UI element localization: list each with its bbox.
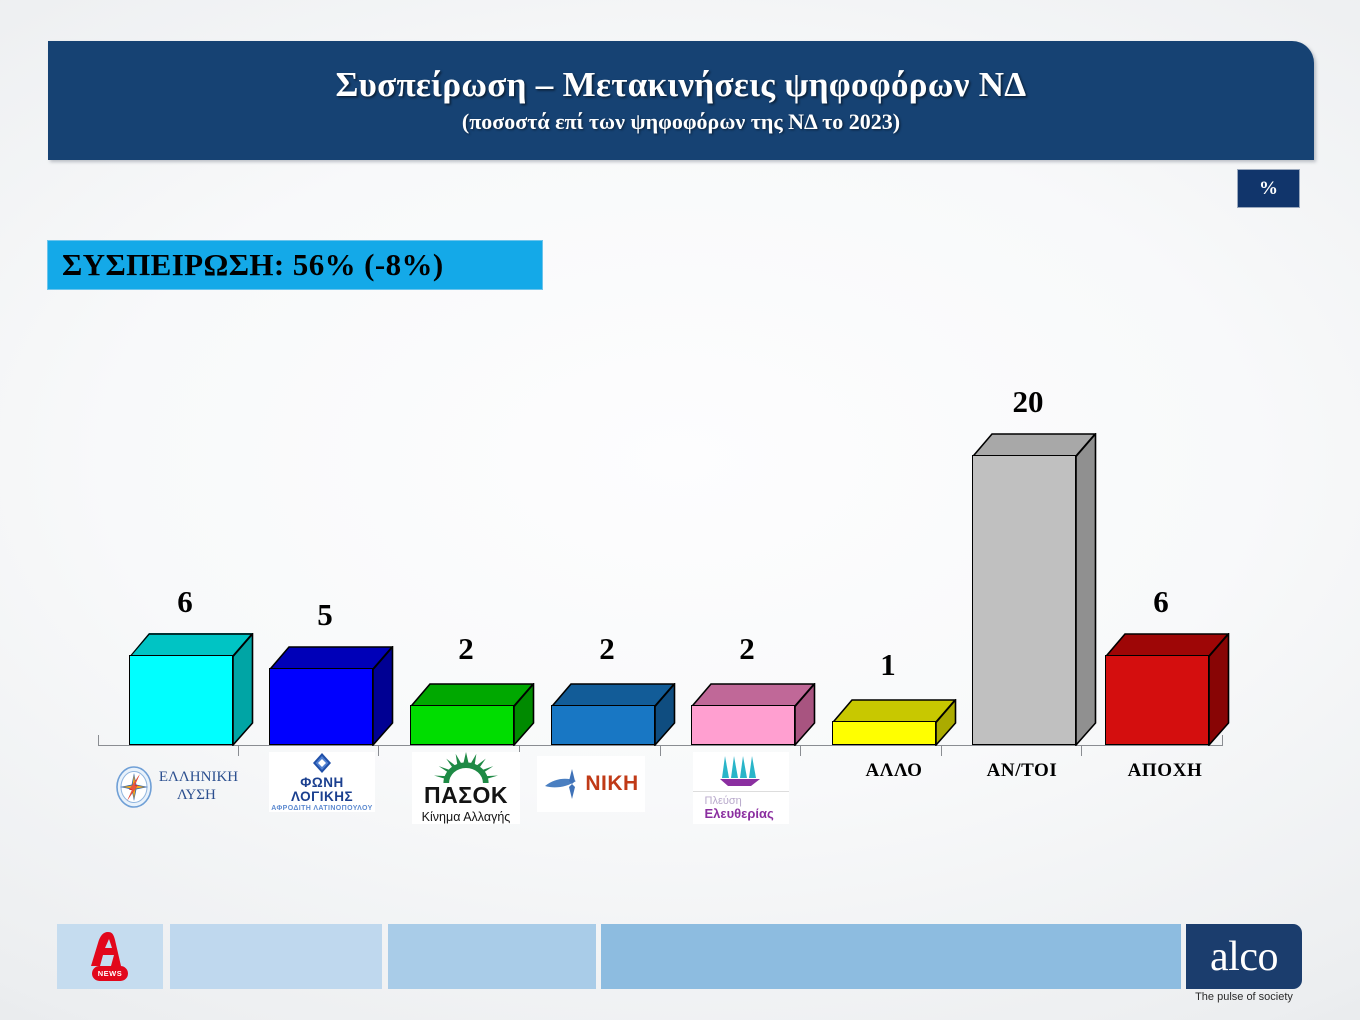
alco-tagline: The pulse of society: [1186, 991, 1302, 1003]
diamond-waves-icon: [311, 752, 333, 774]
bar-top-face: [691, 683, 815, 707]
logo-text-niki: ΝΙΚΗ: [585, 772, 638, 796]
x-axis-line: [98, 745, 1222, 746]
bar-top-face: [410, 683, 534, 707]
bar-front-face: [410, 705, 514, 745]
bar-front-face: [129, 655, 233, 745]
bar-side-face: [1075, 433, 1097, 745]
pasok-sun-icon: [430, 752, 502, 784]
logo-pasok: ΠΑΣΟΚ Κίνημα Αλλαγής: [412, 752, 520, 824]
bar-side-face: [513, 683, 535, 745]
axis-tick: [238, 745, 239, 756]
bar-top-face: [129, 633, 253, 657]
logo-text-plefsi-line1: Πλεύση: [705, 796, 778, 807]
logo-subtext-foni-logikis: ΑΦΡΟΔΙΤΗ ΛΑΤΙΝΟΠΟΥΛΟΥ: [271, 805, 373, 812]
bar-side-face: [794, 683, 816, 745]
bar-value: 2: [685, 631, 809, 667]
alpha-news-logo: NEWS: [57, 924, 163, 989]
bar-value: 1: [826, 647, 950, 683]
bar-side-face: [654, 683, 676, 745]
page-subtitle: (ποσοστά επί των ψηφοφόρων της ΝΔ το 202…: [462, 109, 900, 135]
logo-text-elliniki-lysi: ΕΛΛΗΝΙΚΗ ΛΥΣΗ: [159, 769, 238, 804]
alco-wordmark: alco: [1210, 936, 1278, 978]
bar-front-face: [832, 721, 936, 745]
logo-elliniki-lysi: ΕΛΛΗΝΙΚΗ ΛΥΣΗ: [112, 756, 240, 818]
bar-front-face: [551, 705, 655, 745]
axis-tick: [660, 745, 661, 756]
footer-bar-1: [170, 924, 382, 989]
compass-emblem-icon: [114, 765, 154, 809]
logo-niki: ΝΙΚΗ: [537, 756, 645, 812]
bar-top-face: [832, 699, 956, 723]
bar-top-face: [269, 646, 393, 670]
logo-plefsi-eleftherias: Πλεύση Ελευθερίας: [693, 752, 789, 824]
bar-front-face: [1105, 655, 1209, 745]
footer-bar-3: [601, 924, 1181, 989]
axis-tick: [519, 745, 520, 756]
axis-tick: [941, 745, 942, 756]
logo-foni-logikis: ΦΩΝΗ ΛΟΓΙΚΗΣ ΑΦΡΟΔΙΤΗ ΛΑΤΙΝΟΠΟΥΛΟΥ: [269, 752, 375, 812]
bar-top-face: [551, 683, 675, 707]
logo-text-foni-logikis: ΦΩΝΗ ΛΟΓΙΚΗΣ: [269, 776, 375, 803]
bar-top-face: [1105, 633, 1229, 657]
niki-swoosh-icon: [543, 767, 585, 801]
axis-cap-right: [1222, 735, 1223, 746]
percent-unit-box: %: [1237, 169, 1300, 208]
logo-subtext-pasok: Κίνημα Αλλαγής: [422, 810, 511, 824]
bar-value: 6: [1099, 584, 1223, 620]
bar-front-face: [691, 705, 795, 745]
sailboat-icon: [715, 754, 767, 788]
logo-text-pasok: ΠΑΣΟΚ: [424, 784, 508, 807]
bar-side-face: [1208, 633, 1230, 745]
alpha-news-badge: NEWS: [92, 966, 128, 981]
footer-bar-2: [388, 924, 596, 989]
bar-side-face: [372, 646, 394, 745]
axis-cap-left: [98, 735, 99, 746]
bar-value: 5: [263, 597, 387, 633]
bar-side-face: [232, 633, 254, 745]
bar-front-face: [269, 668, 373, 745]
axis-tick: [800, 745, 801, 756]
axis-tick: [1081, 745, 1082, 756]
category-label-allo: ΑΛΛΟ: [832, 760, 956, 782]
title-banner: Συσπείρωση – Μετακινήσεις ψηφοφόρων ΝΔ (…: [48, 41, 1314, 160]
bar-top-face: [972, 433, 1096, 457]
bar-side-face: [935, 699, 957, 745]
category-label-apochi: ΑΠΟΧΗ: [1103, 760, 1227, 782]
bar-value: 20: [966, 384, 1090, 420]
bar-value: 2: [545, 631, 669, 667]
bar-value: 2: [404, 631, 528, 667]
bar-front-face: [972, 455, 1076, 745]
alco-logo: alco: [1186, 924, 1302, 989]
page-title: Συσπείρωση – Μετακινήσεις ψηφοφόρων ΝΔ: [335, 66, 1026, 105]
retention-highlight-banner: ΣΥΣΠΕΙΡΩΣΗ: 56% (-8%): [47, 240, 543, 290]
logo-text-plefsi-line2: Ελευθερίας: [705, 807, 778, 821]
bar-value: 6: [123, 584, 247, 620]
axis-tick: [378, 745, 379, 756]
category-label-antoi: ΑΝ/ΤΟΙ: [960, 760, 1084, 782]
